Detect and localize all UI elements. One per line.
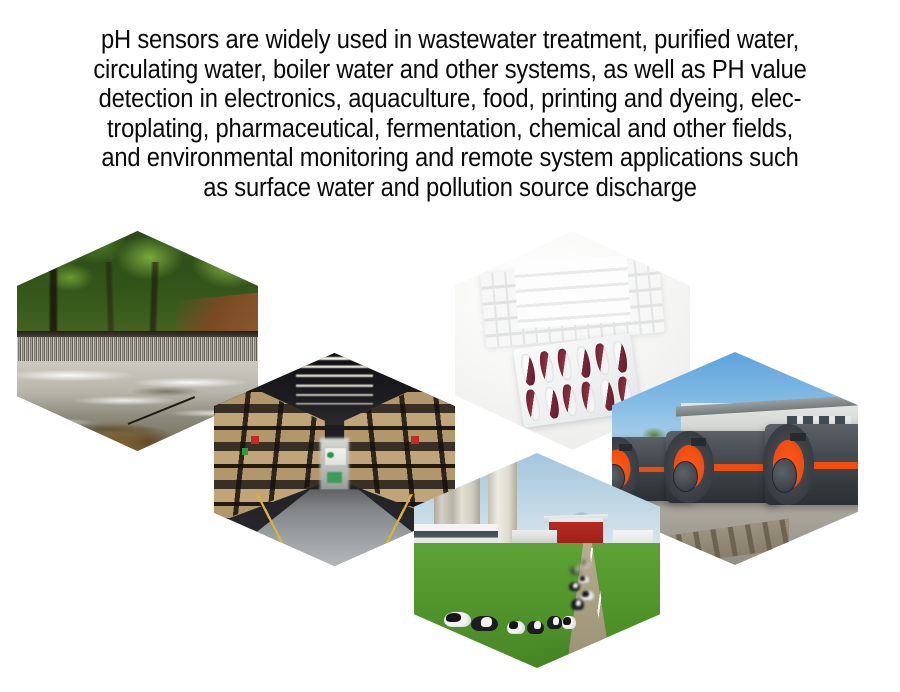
warehouse-forklift bbox=[327, 472, 341, 483]
capsule bbox=[561, 382, 580, 415]
cow bbox=[507, 621, 524, 634]
boiler-nameplate bbox=[619, 444, 632, 451]
boiler-stripe bbox=[807, 462, 858, 469]
headline-line: as surface water and pollution source di… bbox=[32, 174, 869, 204]
cow bbox=[562, 616, 577, 629]
boiler-nameplate bbox=[691, 438, 706, 446]
cow bbox=[547, 616, 562, 629]
page-headline: pH sensors are widely used in wastewater… bbox=[32, 26, 869, 203]
capsule bbox=[575, 344, 594, 377]
headline-line: pH sensors are widely used in wastewater… bbox=[32, 26, 869, 56]
cow bbox=[569, 582, 580, 591]
warehouse-ceiling-lights bbox=[296, 357, 373, 421]
headline-line: troplating, pharmaceutical, fermentation… bbox=[32, 115, 869, 145]
boiler-access-door bbox=[673, 461, 698, 492]
headline-line: circulating water, boiler water and othe… bbox=[32, 56, 869, 86]
headline-line: detection in electronics, aquaculture, f… bbox=[32, 85, 869, 115]
weir-debris bbox=[70, 403, 186, 451]
capsule bbox=[543, 385, 562, 418]
cow bbox=[571, 599, 583, 610]
capsule bbox=[556, 347, 575, 380]
cow bbox=[571, 567, 580, 574]
cow bbox=[581, 561, 589, 567]
farm-pasture bbox=[414, 543, 660, 668]
headline-line: and environmental monitoring and remote … bbox=[32, 144, 869, 174]
weir-waterfall bbox=[17, 337, 258, 362]
cow bbox=[579, 576, 589, 584]
capsule bbox=[519, 352, 538, 385]
cow bbox=[444, 612, 471, 627]
cow bbox=[527, 621, 544, 634]
capsule bbox=[593, 341, 612, 374]
warehouse-aisle-tag-red-right bbox=[411, 436, 419, 444]
capsule bbox=[612, 339, 631, 372]
pharma-empty-blister-sheet-top bbox=[514, 256, 631, 329]
capsule bbox=[538, 349, 557, 382]
warehouse-floor-line-left bbox=[214, 494, 339, 566]
boiler-nameplate bbox=[790, 433, 805, 442]
boiler-vessel bbox=[765, 424, 858, 505]
warehouse-aisle-tag-green bbox=[242, 448, 248, 455]
farm-red-barn bbox=[549, 518, 603, 544]
boiler-access-door bbox=[772, 458, 798, 492]
capsule bbox=[580, 380, 599, 413]
capsule bbox=[524, 388, 543, 421]
cow bbox=[581, 591, 593, 601]
warehouse-aisle-tag-red-left bbox=[251, 436, 259, 444]
cow bbox=[471, 616, 498, 631]
